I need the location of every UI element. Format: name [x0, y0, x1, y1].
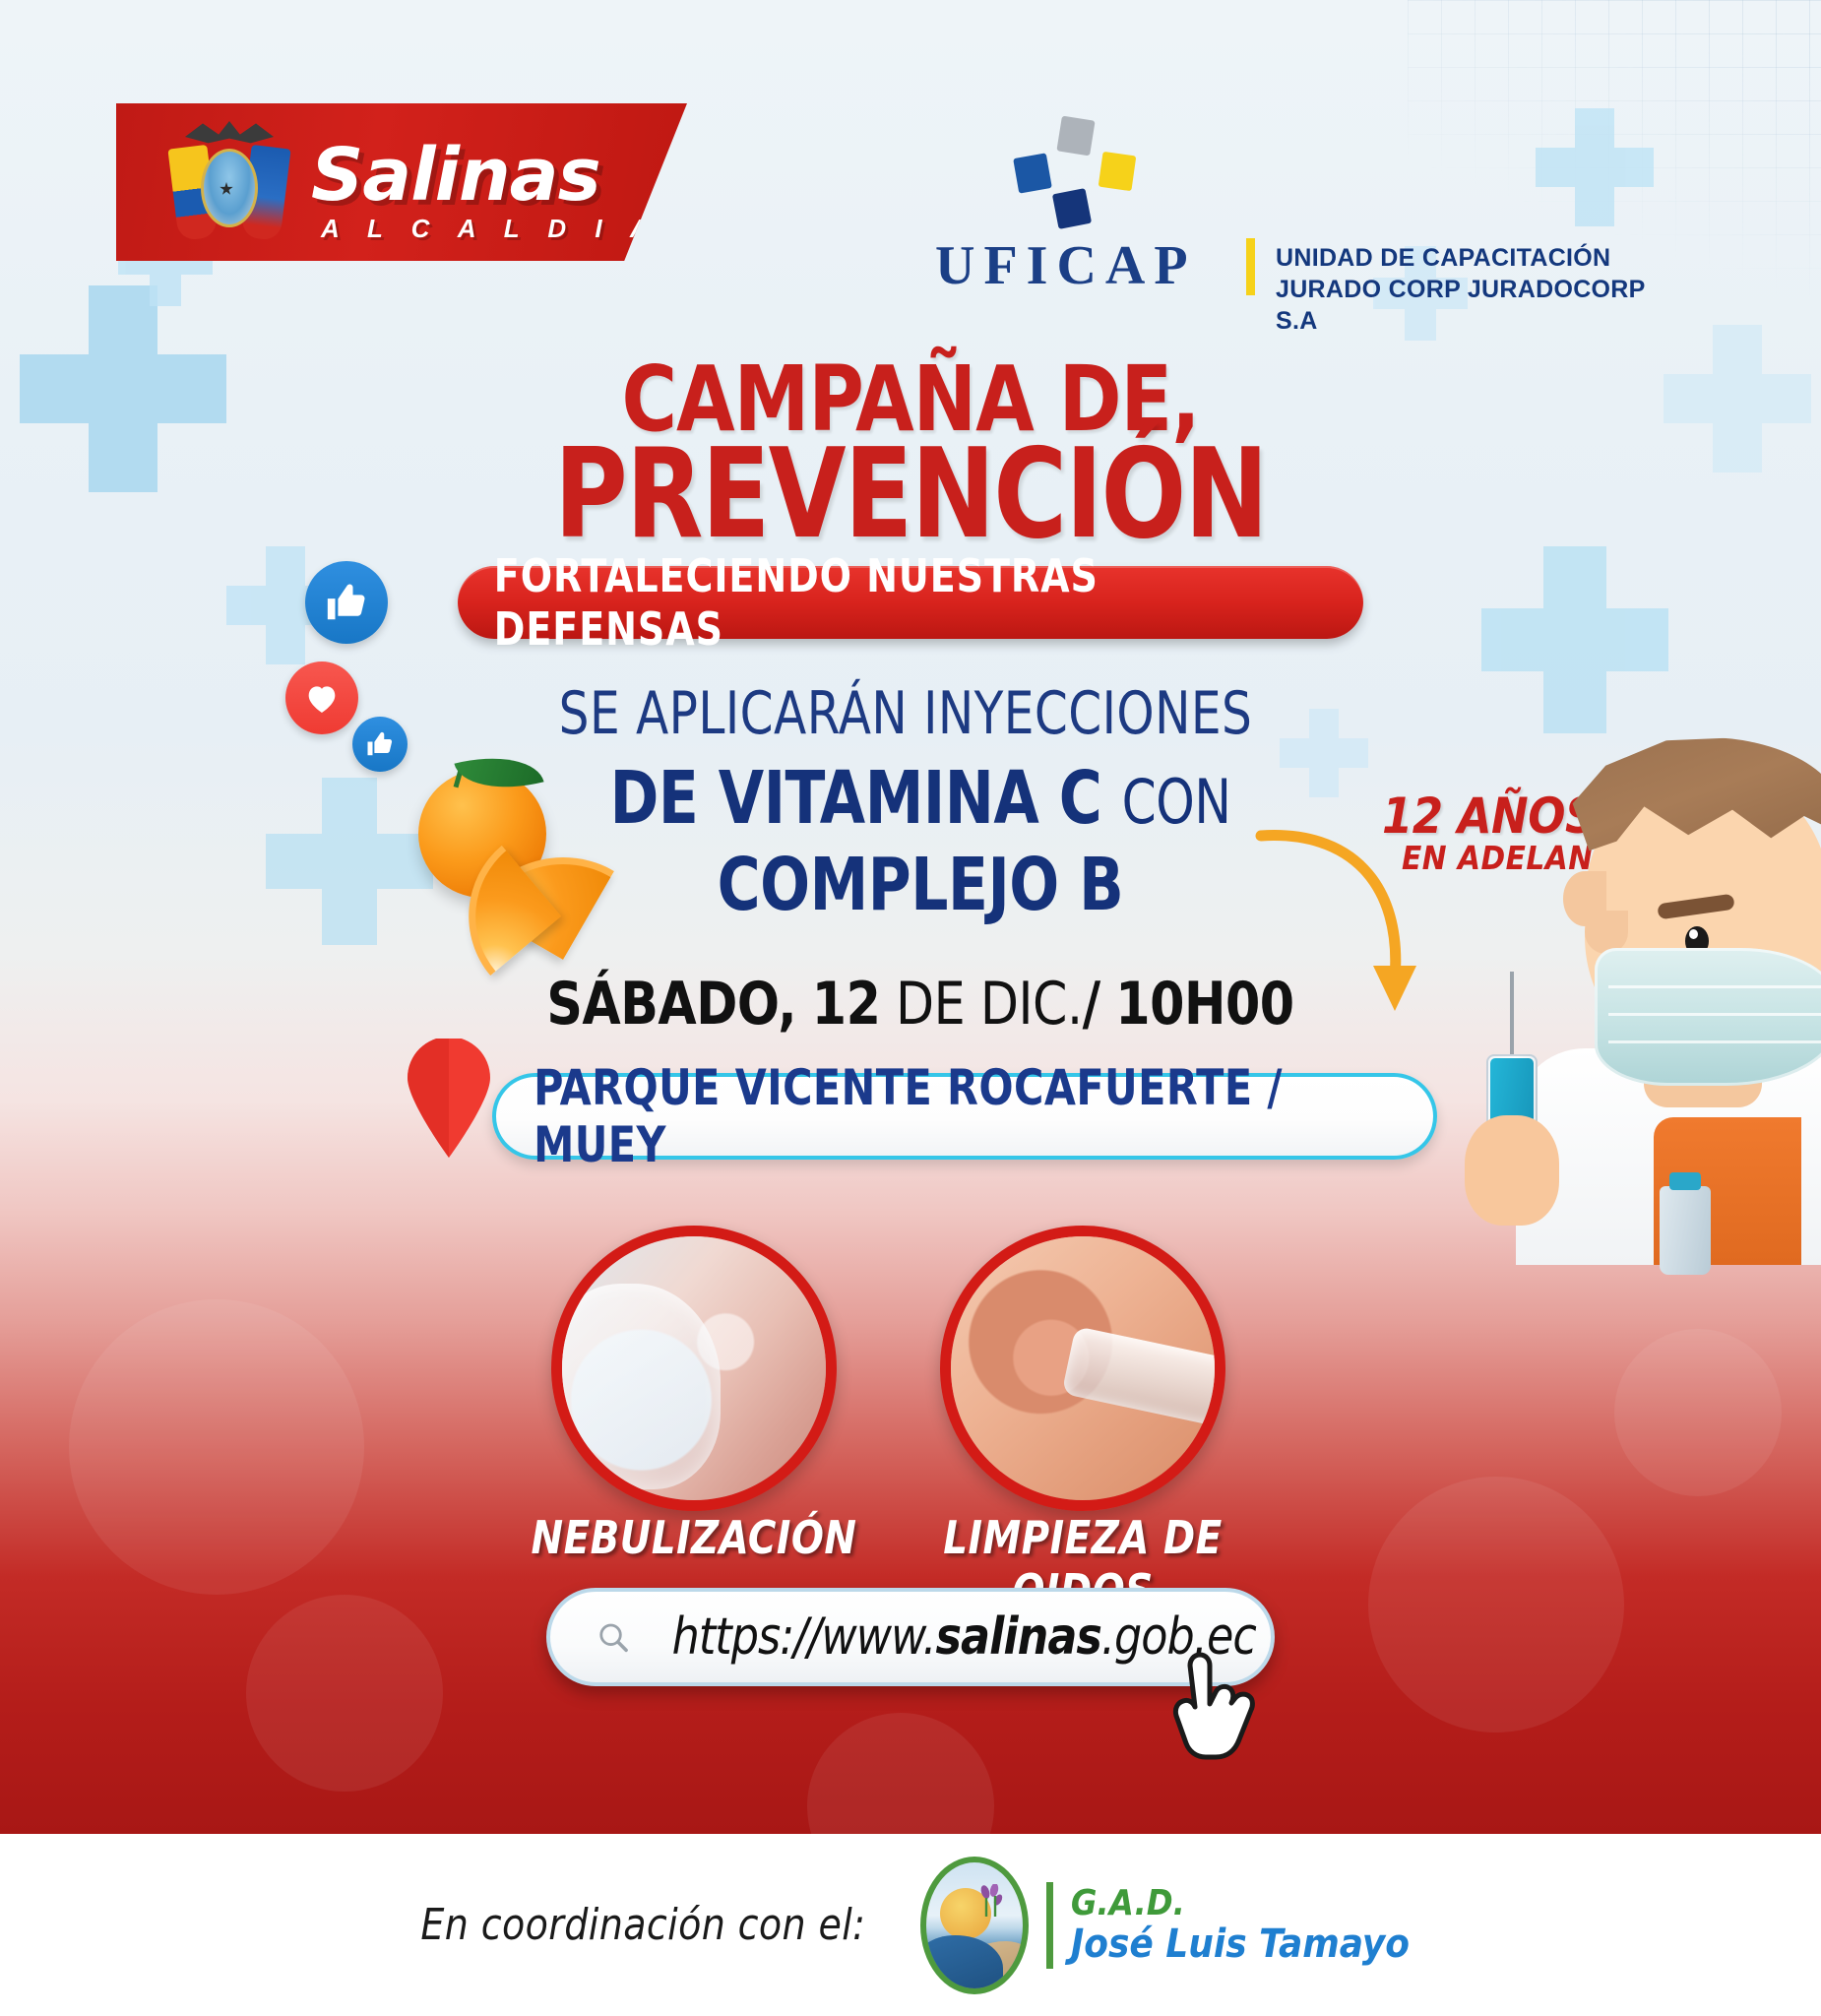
- gad-jose-luis-tamayo-logo[interactable]: G.A.D. José Luis Tamayo: [920, 1857, 1410, 1994]
- salinas-alcaldia-logo[interactable]: Salinas A L C A L D I A: [116, 103, 687, 261]
- service-photo-nebulizacion: [551, 1226, 837, 1511]
- url-brand: salinas: [935, 1607, 1100, 1667]
- gad-emblem-icon: [920, 1857, 1029, 1994]
- event-day: SÁBADO,: [546, 970, 796, 1039]
- surgical-mask-icon: [1595, 948, 1821, 1086]
- url-prefix: https://www.: [671, 1607, 935, 1667]
- uficap-square-blue-icon: [1013, 153, 1052, 193]
- campaign-banner-label: FORTALECIENDO NUESTRAS DEFENSAS: [494, 549, 1327, 656]
- location-label: PARQUE VICENTE ROCAFUERTE / MUEY: [534, 1059, 1396, 1173]
- gad-divider: [1046, 1882, 1053, 1969]
- offer-line2-strong: DE VITAMINA C: [610, 756, 1102, 841]
- event-month: DE DIC.: [896, 970, 1083, 1039]
- virus-silhouette: [69, 1299, 364, 1595]
- virus-silhouette: [807, 1713, 994, 1834]
- gad-line1: G.A.D.: [1071, 1884, 1410, 1923]
- page-title-line2: PREVENCIÓN: [92, 421, 1730, 566]
- uficap-wordmark: UFICAP: [935, 234, 1197, 297]
- poster-artboard: Salinas A L C A L D I A UFICAP UNIDAD DE…: [0, 0, 1821, 1834]
- salinas-wordmark: Salinas: [311, 133, 600, 218]
- virus-silhouette: [1614, 1329, 1782, 1496]
- doctor-illustration: [1457, 724, 1821, 1245]
- search-icon: [596, 1610, 631, 1664]
- website-search-bar[interactable]: https://www.salinas.gob.ec: [546, 1588, 1275, 1686]
- uficap-square-gray-icon: [1056, 116, 1095, 157]
- ecuador-coat-of-arms-icon: [169, 119, 289, 245]
- salinas-subtitle: A L C A L D I A: [321, 214, 659, 244]
- virus-silhouette: [246, 1595, 443, 1792]
- event-time: 10H00: [1115, 970, 1293, 1039]
- campaign-banner: FORTALECIENDO NUESTRAS DEFENSAS: [458, 566, 1363, 639]
- offer-line2-thin: CON: [1122, 766, 1231, 838]
- offer-line2: DE VITAMINA C CON: [553, 756, 1288, 841]
- map-pin-icon: [404, 1039, 494, 1159]
- cross-decoration: [1280, 709, 1368, 797]
- offer-line3: COMPLEJO B: [553, 843, 1288, 927]
- uficap-divider: [1246, 238, 1255, 295]
- virus-silhouette: [1368, 1477, 1624, 1732]
- location-pill[interactable]: PARQUE VICENTE ROCAFUERTE / MUEY: [492, 1073, 1437, 1160]
- uficap-description: UNIDAD DE CAPACITACIÓN JURADO CORP JURAD…: [1276, 242, 1683, 337]
- flower-icon: [977, 1884, 1005, 1918]
- gad-line2: José Luis Tamayo: [1071, 1922, 1410, 1966]
- service-label-nebulizacion: NEBULIZACIÓN: [481, 1511, 907, 1564]
- event-separator: /: [1083, 970, 1100, 1039]
- heart-icon: [285, 661, 358, 734]
- cross-decoration: [1481, 546, 1668, 733]
- event-date: 12: [812, 970, 881, 1039]
- service-photo-limpieza-oidos: [940, 1226, 1225, 1511]
- event-datetime: SÁBADO, 12 DE DIC./ 10H00: [490, 970, 1350, 1039]
- footer-bar: En coordinación con el: G.A.D. José Luis…: [0, 1834, 1821, 2016]
- campaign-poster: Salinas A L C A L D I A UFICAP UNIDAD DE…: [0, 0, 1821, 2016]
- coordination-text: En coordinación con el:: [420, 1900, 865, 1950]
- pointer-hand-cursor-icon: [1166, 1649, 1265, 1767]
- thumbs-up-icon: [305, 561, 388, 644]
- vaccine-vial-icon: [1660, 1186, 1711, 1275]
- offer-lead-text: SE APLICARÁN INYECCIONES: [551, 679, 1260, 748]
- uficap-logo[interactable]: UFICAP UNIDAD DE CAPACITACIÓN JURADO COR…: [935, 118, 1683, 276]
- uficap-square-yellow-icon: [1099, 152, 1137, 191]
- uficap-square-navy-icon: [1052, 188, 1092, 229]
